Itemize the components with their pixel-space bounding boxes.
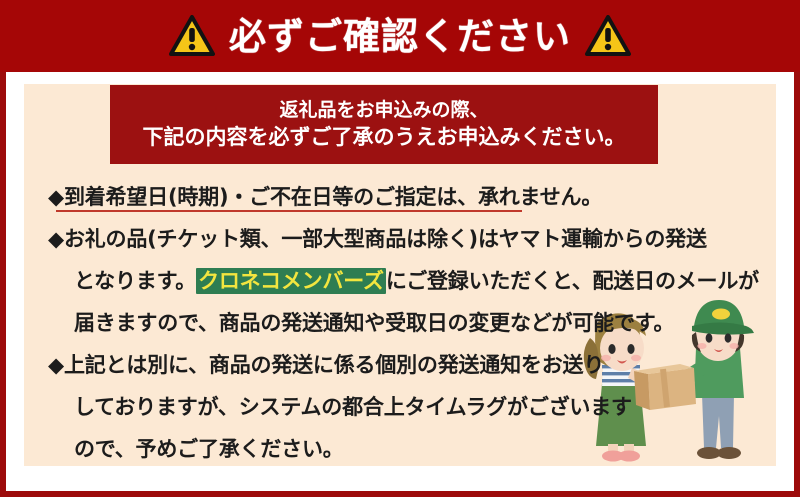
- note-line: ので、予めご了承ください。: [48, 428, 748, 466]
- note-line: 届きますので、商品の発送通知や受取日の変更などが可能です。: [48, 302, 748, 344]
- body-panel: 返礼品をお申込みの際、 下記の内容を必ずご了承のうえお申込みください。 ◆到着希…: [24, 84, 776, 466]
- note-text-post: にご登録いただくと、配送日のメールが: [386, 269, 759, 293]
- subtitle-line-2: 下記の内容を必ずご了承のうえお申込みください。: [143, 123, 626, 151]
- header-band: 必ずご確認ください: [0, 0, 800, 72]
- note-line: ◆お礼の品(チケット類、一部大型商品は除く)はヤマト運輸からの発送: [48, 218, 748, 260]
- notice-banner: 必ずご確認ください 返礼品をお申込みの際、 下記の内容を必ずご了承のうえお申込み…: [0, 0, 800, 497]
- page-title: 必ずご確認ください: [229, 18, 571, 55]
- note-line-with-highlight: となります。クロネコメンバーズにご登録いただくと、配送日のメールが: [48, 260, 748, 302]
- note-line: しておりますが、システムの都合上タイムラグがございます: [48, 386, 748, 428]
- note-underline: [56, 210, 522, 212]
- warning-triangle-icon: [585, 15, 631, 57]
- note-text-pre: となります。: [74, 269, 196, 293]
- subtitle-line-1: 返礼品をお申込みの際、: [279, 98, 488, 123]
- note-line: ◆上記とは別に、商品の発送に係る個別の発送通知をお送り: [48, 344, 748, 386]
- kuroneko-members-highlight: クロネコメンバーズ: [196, 268, 386, 294]
- notes-list: ◆到着希望日(時期)・ご不在日等のご指定は、承れません。 ◆お礼の品(チケット類…: [48, 176, 748, 466]
- subtitle-box: 返礼品をお申込みの際、 下記の内容を必ずご了承のうえお申込みください。: [110, 85, 658, 164]
- warning-triangle-icon: [169, 15, 215, 57]
